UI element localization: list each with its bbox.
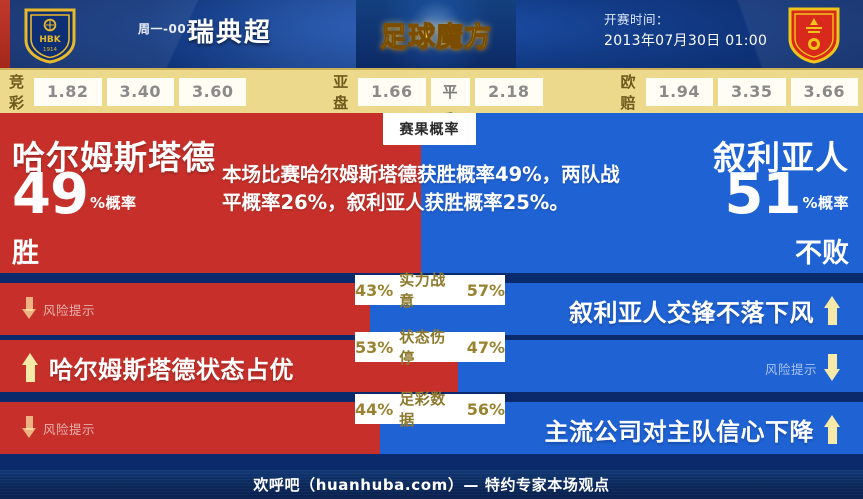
away-risk-note-text: 风险提示 xyxy=(765,359,817,378)
comparison-bar: 44% 足彩数据 56% 风险提示 主流公司对主队信心下降 xyxy=(0,402,863,454)
odds-group-yapan: 亚盘 1.66 平手/半球 2.18 xyxy=(324,71,547,113)
arrow-down-icon xyxy=(22,297,36,321)
arrow-up-icon xyxy=(22,354,39,382)
away-verdict: 主流公司对主队信心下降 xyxy=(545,412,842,447)
away-risk-note: 风险提示 xyxy=(765,354,841,382)
home-team-crest-icon: HBK 1914 xyxy=(22,6,78,64)
home-probability-value-row: 49 %概率 xyxy=(12,169,136,221)
footer-text: 欢呼吧（huanhuba.com）— 特约专家本场观点 xyxy=(253,474,609,495)
bar-metric-name: 足彩数据 xyxy=(399,388,460,430)
bar-right-percent: 47% xyxy=(467,338,505,357)
bar-left-percent: 44% xyxy=(355,400,393,419)
away-verdict-text: 主流公司对主队信心下降 xyxy=(545,412,815,447)
arrow-up-icon xyxy=(824,297,841,325)
home-risk-note-text: 风险提示 xyxy=(43,300,95,319)
match-preview-infographic: HBK 1914 周一-002 瑞典超 足球魔方 开赛时间： 2013年07月3… xyxy=(0,0,863,499)
home-risk-note-text: 风险提示 xyxy=(43,419,95,438)
kickoff-label: 开赛时间： xyxy=(604,9,669,28)
home-probability-number: 49 xyxy=(12,169,88,221)
odds-value[interactable]: 3.66 xyxy=(791,78,858,106)
svg-text:HBK: HBK xyxy=(39,35,61,45)
probability-summary-text: 本场比赛哈尔姆斯塔德获胜概率49%，两队战平概率26%，叙利亚人获胜概率25%。 xyxy=(222,161,622,218)
panel-tab-label: 赛果概率 xyxy=(383,113,476,145)
home-verdict-text: 哈尔姆斯塔德状态占优 xyxy=(49,350,294,385)
bar-metric-name: 状态伤停 xyxy=(399,326,460,368)
odds-value[interactable]: 3.60 xyxy=(179,78,246,106)
away-outcome-label: 不败 xyxy=(795,231,849,270)
bar-left-percent: 43% xyxy=(355,281,393,300)
brand-logo: 足球魔方 xyxy=(356,0,516,68)
away-verdict: 叙利亚人交锋不落下风 xyxy=(569,293,841,328)
bar-caption: 43% 实力战意 57% xyxy=(355,275,505,305)
bar-left-percent: 53% xyxy=(355,338,393,357)
odds-group-jingcai: 竞彩 1.82 3.40 3.60 xyxy=(0,71,251,113)
odds-handicap[interactable]: 平手/半球 xyxy=(431,78,470,106)
bar-right-percent: 56% xyxy=(467,400,505,419)
home-outcome-label: 胜 xyxy=(12,231,39,270)
odds-value[interactable]: 2.18 xyxy=(475,78,542,106)
away-probability-value-row: 51 %概率 xyxy=(725,169,849,221)
odds-value[interactable]: 1.94 xyxy=(646,78,713,106)
bar-caption: 44% 足彩数据 56% xyxy=(355,394,505,424)
home-probability-suffix: %概率 xyxy=(90,192,137,213)
odds-value[interactable]: 1.82 xyxy=(34,78,101,106)
arrow-down-icon xyxy=(824,354,841,382)
home-risk-note: 风险提示 xyxy=(22,297,95,321)
kickoff-time: 2013年07月30日 01:00 xyxy=(604,30,767,50)
home-risk-note: 风险提示 xyxy=(22,416,95,440)
odds-value[interactable]: 3.40 xyxy=(107,78,174,106)
home-verdict: 哈尔姆斯塔德状态占优 xyxy=(22,350,294,385)
match-number: 周一-002 xyxy=(138,20,195,37)
arrow-down-icon xyxy=(22,416,36,440)
comparison-bar: 53% 状态伤停 47% 哈尔姆斯塔德状态占优 风险提示 xyxy=(0,340,863,392)
odds-strip: 竞彩 1.82 3.40 3.60 亚盘 1.66 平手/半球 2.18 欧赔 … xyxy=(0,68,863,115)
away-verdict-text: 叙利亚人交锋不落下风 xyxy=(569,293,814,328)
away-probability-suffix: %概率 xyxy=(802,192,849,213)
bar-right-percent: 57% xyxy=(467,281,505,300)
footer-bar: 欢呼吧（huanhuba.com）— 特约专家本场观点 xyxy=(0,470,863,499)
bar-metric-name: 实力战意 xyxy=(399,269,460,311)
odds-value[interactable]: 1.66 xyxy=(358,78,425,106)
odds-value[interactable]: 3.35 xyxy=(718,78,785,106)
bar-caption: 53% 状态伤停 47% xyxy=(355,332,505,362)
odds-group-title: 亚盘 xyxy=(333,71,349,113)
odds-group-title: 欧赔 xyxy=(621,71,637,113)
arrow-up-icon xyxy=(824,416,841,444)
away-probability-number: 51 xyxy=(725,169,801,221)
away-team-crest-icon xyxy=(786,6,842,64)
odds-group-title: 竞彩 xyxy=(9,71,25,113)
result-probability-panel: 赛果概率 哈尔姆斯塔德 49 %概率 胜 本场比赛哈尔姆斯塔德获胜概率49%，两… xyxy=(0,113,863,273)
brand-text: 足球魔方 xyxy=(380,15,492,54)
svg-text:1914: 1914 xyxy=(43,47,57,53)
header-bar: HBK 1914 周一-002 瑞典超 足球魔方 开赛时间： 2013年07月3… xyxy=(0,0,863,68)
league-name: 瑞典超 xyxy=(188,12,272,49)
odds-group-oupei: 欧赔 1.94 3.35 3.66 xyxy=(612,71,863,113)
